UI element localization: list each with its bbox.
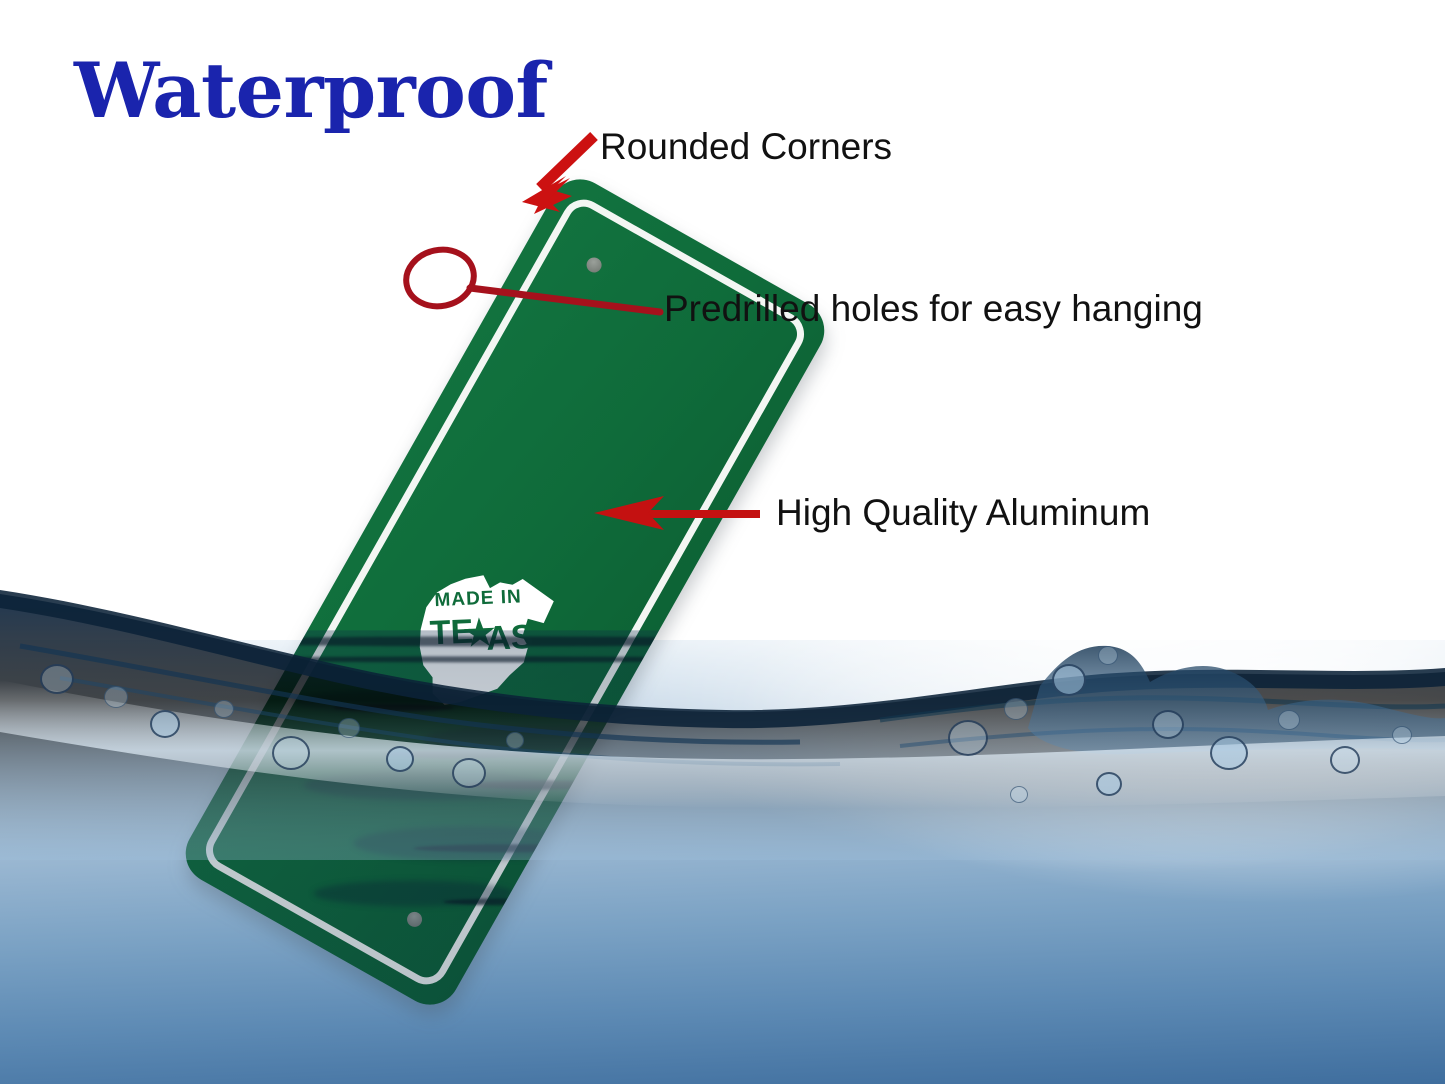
- annotation-label-rounded-corners: Rounded Corners: [600, 126, 892, 168]
- annotation-label-predrilled-holes: Predrilled holes for easy hanging: [664, 288, 1203, 330]
- annotation-label-high-quality-aluminum: High Quality Aluminum: [776, 492, 1150, 534]
- badge-line1: MADE IN: [434, 586, 522, 611]
- infographic-canvas: MADE IN TE ★ AS: [0, 0, 1445, 1084]
- page-title: Waterproof: [74, 46, 548, 135]
